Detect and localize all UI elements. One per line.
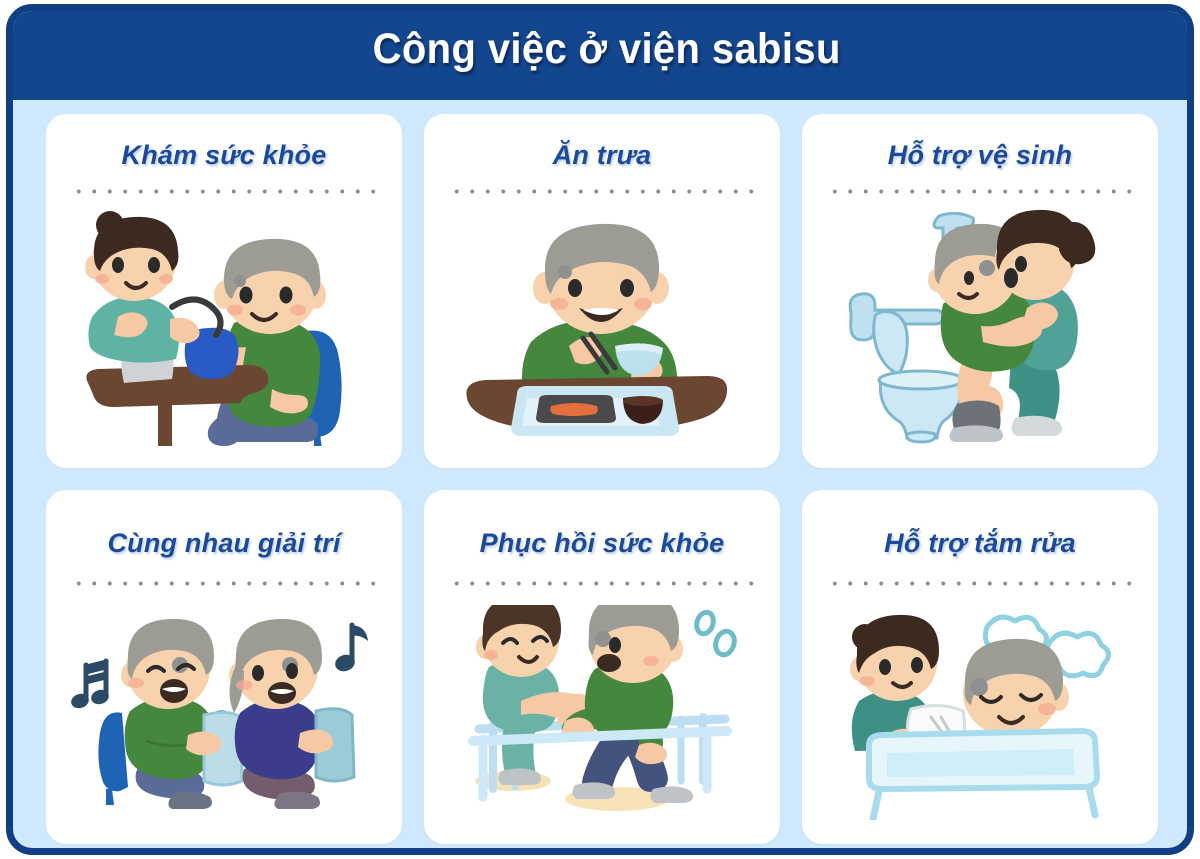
illustration-bathing-assistance (802, 586, 1158, 844)
illustration-health-check (46, 194, 402, 468)
illustration-rehabilitation (424, 586, 780, 844)
singing-recreation-icon (64, 607, 384, 817)
poster: Công việc ở viện sabisu Khám sức khỏe (0, 0, 1200, 859)
card-title-health-check: Khám sức khỏe (122, 140, 327, 171)
music-note-icon (333, 625, 368, 674)
illustration-recreation (46, 586, 402, 844)
toilet-assist-icon (835, 208, 1125, 448)
blood-pressure-check-icon (74, 211, 374, 446)
eating-lunch-icon (457, 216, 747, 441)
card-title-toilet-assistance: Hỗ trợ vệ sinh (888, 140, 1072, 171)
card-toilet-assistance[interactable]: Hỗ trợ vệ sinh (802, 114, 1158, 468)
card-title-recreation: Cùng nhau giải trí (107, 528, 340, 559)
card-lunch[interactable]: Ăn trưa (424, 114, 780, 468)
page-title: Công việc ở viện sabisu (373, 28, 841, 75)
card-recreation[interactable]: Cùng nhau giải trí (46, 490, 402, 844)
card-title-bathing-assistance: Hỗ trợ tắm rửa (884, 528, 1076, 559)
card-health-check[interactable]: Khám sức khỏe (46, 114, 402, 468)
title-bar: Công việc ở viện sabisu (6, 4, 1194, 100)
rehabilitation-walking-icon (457, 605, 747, 820)
card-title-rehabilitation: Phục hồi sức khỏe (480, 528, 725, 559)
illustration-lunch (424, 194, 780, 468)
card-bathing-assistance[interactable]: Hỗ trợ tắm rửa (802, 490, 1158, 844)
bathing-assist-icon (835, 605, 1125, 820)
card-grid: Khám sức khỏe (46, 114, 1158, 844)
illustration-toilet-assistance (802, 194, 1158, 468)
sweat-drop-icon (694, 610, 737, 657)
card-title-lunch: Ăn trưa (553, 140, 652, 171)
music-note-icon (69, 659, 110, 710)
poster-frame: Công việc ở viện sabisu Khám sức khỏe (6, 4, 1194, 855)
card-rehabilitation[interactable]: Phục hồi sức khỏe (424, 490, 780, 844)
